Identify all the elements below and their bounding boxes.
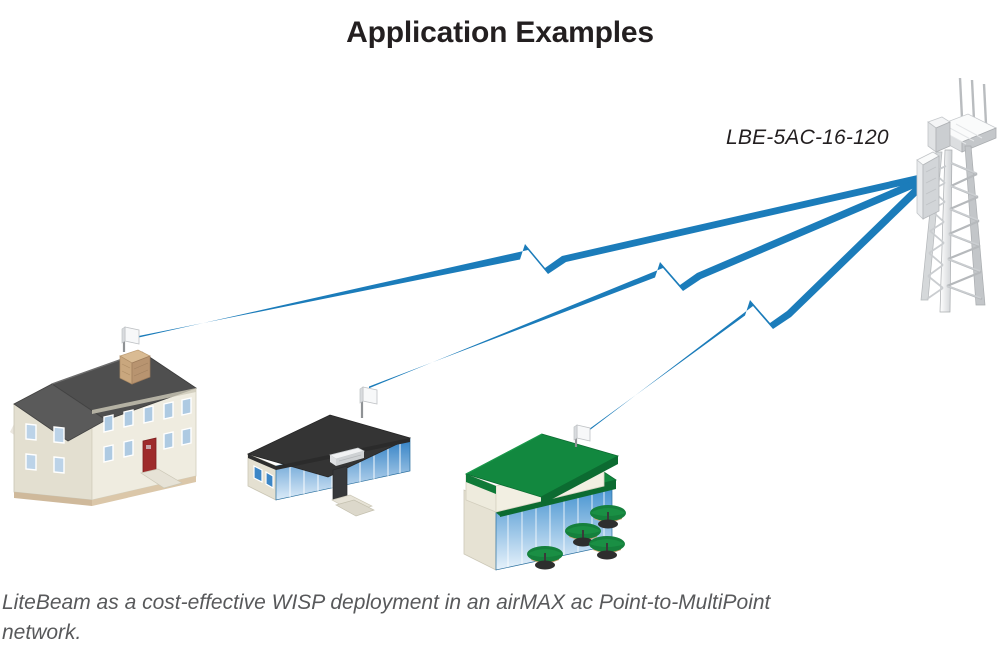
wireless-link-house	[131, 175, 925, 340]
chimney	[120, 350, 150, 384]
figure-caption: LiteBeam as a cost-effective WISP deploy…	[2, 588, 772, 648]
network-topology-illustration	[0, 0, 1000, 667]
transmission-tower	[917, 78, 996, 312]
residential-house	[10, 327, 196, 506]
office-entrance	[333, 466, 347, 500]
sector-antenna-panel	[917, 152, 939, 219]
office-rooftop-radio	[360, 387, 377, 418]
patio-set	[527, 546, 563, 570]
office-building	[248, 387, 410, 516]
house-front-door	[143, 438, 156, 473]
application-examples-figure: Application Examples LBE-5AC-16-120	[0, 0, 1000, 667]
cafe-rooftop-radio	[574, 425, 590, 447]
office-steps	[332, 495, 374, 516]
wireless-link-office	[369, 178, 925, 389]
tower-equipment-box	[928, 117, 950, 152]
cafe-building	[464, 425, 626, 570]
wireless-link-cafe	[583, 182, 925, 436]
house-rooftop-radio	[122, 327, 139, 352]
patio-set	[589, 536, 625, 560]
